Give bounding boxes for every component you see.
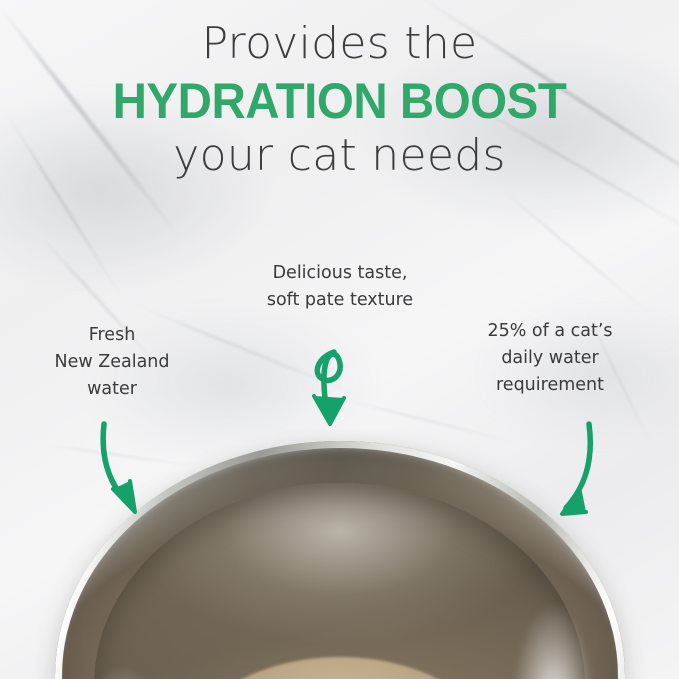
annotation-fresh-water: Fresh New Zealand water — [32, 322, 192, 403]
annotation-line: soft pate texture — [240, 287, 440, 314]
headline-line-2-accent: HYDRATION BOOST — [17, 76, 662, 126]
headline-line-3: your cat needs — [0, 134, 679, 178]
annotation-line: New Zealand — [32, 349, 192, 376]
annotation-daily-water: 25% of a cat’s daily water requirement — [455, 318, 645, 399]
annotation-taste-texture: Delicious taste, soft pate texture — [240, 260, 440, 314]
headline-block: Provides the HYDRATION BOOST your cat ne… — [0, 22, 679, 178]
steel-bowl — [55, 441, 625, 679]
annotation-line: requirement — [455, 372, 645, 399]
annotation-line: Delicious taste, — [240, 260, 440, 287]
annotation-line: water — [32, 376, 192, 403]
bowl-photo — [0, 429, 679, 679]
annotation-line: daily water — [455, 345, 645, 372]
annotation-line: 25% of a cat’s — [455, 318, 645, 345]
headline-line-1: Provides the — [0, 22, 679, 66]
annotation-line: Fresh — [32, 322, 192, 349]
bowl-rim — [55, 441, 625, 679]
marketing-image: Provides the HYDRATION BOOST your cat ne… — [0, 0, 679, 679]
